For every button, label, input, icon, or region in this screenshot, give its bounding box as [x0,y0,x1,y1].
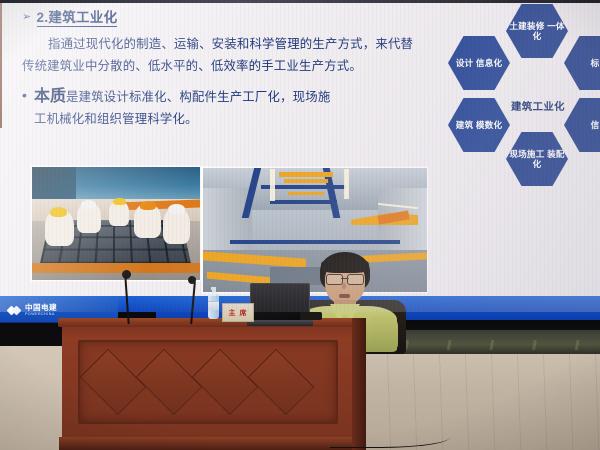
desk-nameplate: 主 席 [222,303,254,322]
photo-helmet [140,201,157,210]
hexagon-node-6: 现场施工 装配化 [506,132,568,186]
podium-left-side [0,0,2,128]
presenter-fringe [321,257,369,273]
photo-right-rail [230,240,400,244]
hexagon-node-2: 设计 信息化 [448,36,510,90]
slide-title-text: 2.建筑工业化 [37,6,118,27]
slide-title: ➢ 2.建筑工业化 [22,6,422,27]
bottle-label [208,301,219,310]
photo-right-crane [288,192,324,196]
slide-bullet-line1: 是建筑设计标准化、构配件生产工厂化，现场施 [66,90,330,104]
podium-diamond-motif [248,349,314,415]
photo-right-light [270,169,274,201]
slide-bullet-line2: 工机械化和组织管理科学化。 [22,108,422,130]
photo-helmet [81,200,96,209]
screen-top-frame [0,0,600,3]
photo-right-crane [284,179,329,183]
slide-paragraph: 指通过现代化的制造、运输、安装和科学管理的生产方式，来代替传统建筑业中分散的、低… [22,33,422,77]
podium-base [59,437,357,450]
powerchina-diamond-icon [8,304,21,317]
lecture-hall-scene: ➢ 2.建筑工业化 指通过现代化的制造、运输、安装和科学管理的生产方式，来代替传… [0,0,600,450]
podium-diamond-motif [136,349,202,415]
photo-helmet [113,198,126,206]
podium-diamond-motif [80,349,146,415]
photo-right-beam [270,200,337,204]
slide-text-block: ➢ 2.建筑工业化 指通过现代化的制造、运输、安装和科学管理的生产方式，来代替传… [22,6,422,130]
presenter-right-arm [372,316,398,352]
arrow-bullet-icon: ➢ [22,10,32,23]
hexagon-center-label: 建筑工业化 [488,94,588,116]
presenter-nose [342,283,346,289]
bottle-neck [212,289,216,296]
slide-paragraph-text: 指通过现代化的制造、运输、安装和科学管理的生产方式，来代替传统建筑业中分散的、低… [22,37,413,73]
photo-helmet [168,204,185,214]
laptop-keyboard [247,320,313,326]
podium [62,322,354,450]
podium-diamond-motif [192,349,258,415]
logo-english-name: POWERCHINA [25,313,57,317]
logo-text-group: 中国电建 POWERCHINA [25,304,57,317]
presenter-glasses-icon [326,274,364,283]
dot-bullet-icon: • [22,84,34,106]
photo-right-light [344,169,348,199]
hexagon-node-3: 标 [564,36,600,90]
desk-small-object [300,312,322,320]
slide-bullet-keyword: 本质 [34,88,66,105]
hexagon-diagram: 土建装修 一体化 设计 信息化 标 建筑 模数化 信 现场施工 装配化 建筑工业… [438,2,600,207]
photo-right-crane [279,172,333,177]
slide-photo-left [32,167,200,280]
logo-chinese-name: 中国电建 [25,304,57,312]
slide-bullet-item: •本质是建筑设计标准化、构配件生产工厂化，现场施 工机械化和组织管理科学化。 [22,84,422,130]
glasses-bridge [341,278,349,279]
photo-left-frontrail [32,263,200,273]
hexagon-node-1: 土建装修 一体化 [506,4,568,58]
presenter-mouth [339,294,350,298]
podium-panel [78,340,338,424]
photo-helmet [50,207,67,217]
water-bottle [208,287,219,319]
bottle-cap [211,287,216,290]
